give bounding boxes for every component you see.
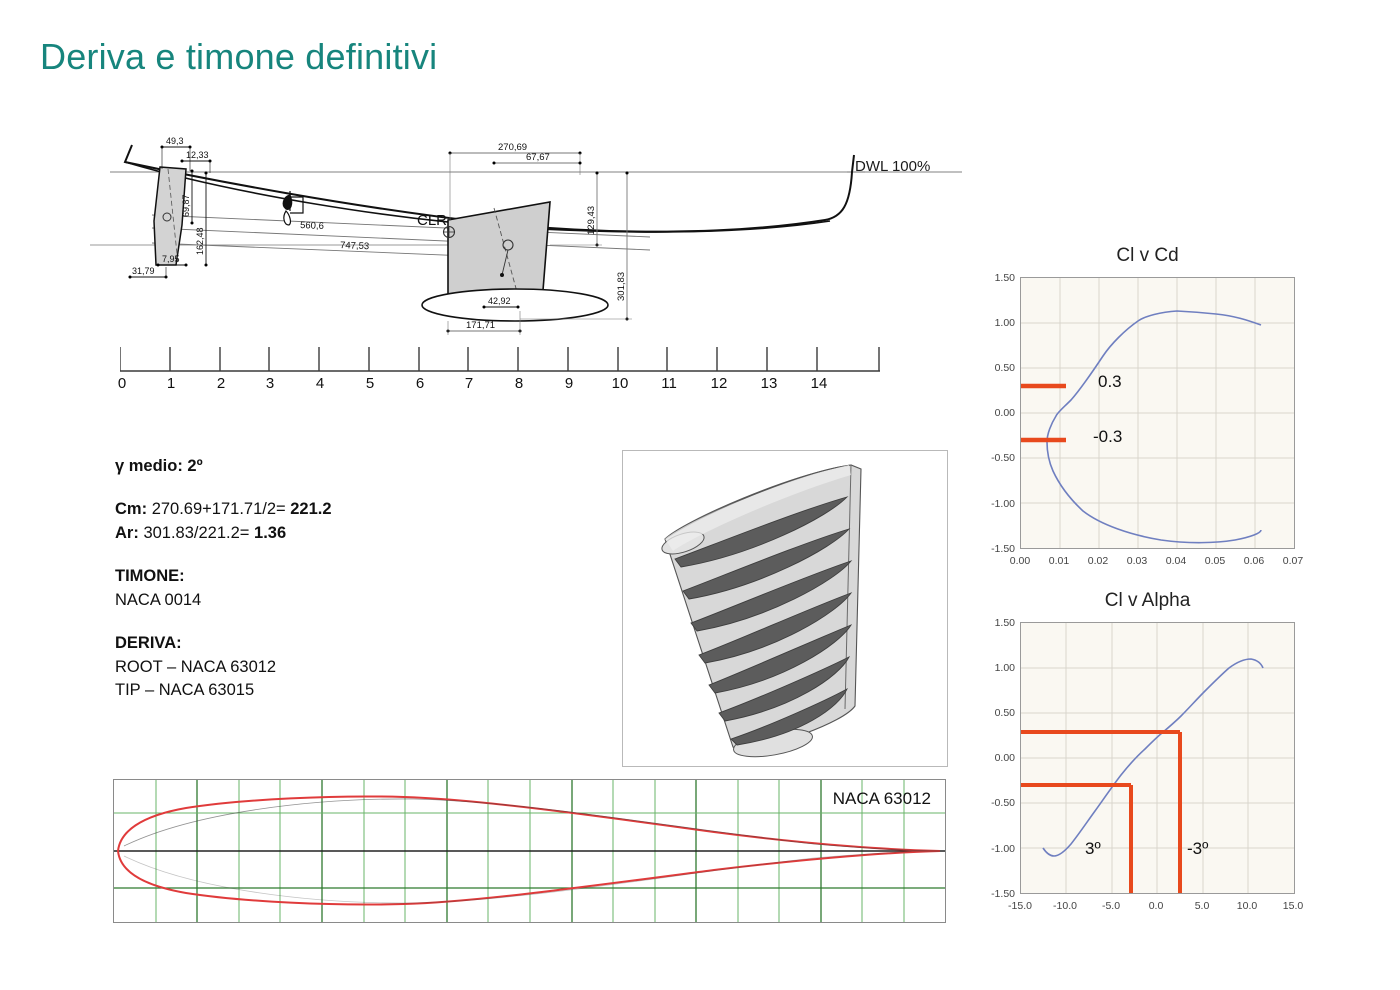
clalpha-ytick-6: -1.50 <box>975 888 1015 900</box>
page-title: Deriva e timone definitivi <box>40 36 437 78</box>
clcd-ytick-5: -1.00 <box>975 498 1015 510</box>
clcd-xtick-4: 0.04 <box>1166 555 1186 567</box>
clalpha-xtick-3: 0.0 <box>1149 900 1164 912</box>
ruler-label-4: 4 <box>316 375 324 392</box>
ruler-ticks <box>120 345 880 375</box>
clcd-xtick-5: 0.05 <box>1205 555 1225 567</box>
clalpha-ytick-2: 0.50 <box>975 707 1015 719</box>
clcd-plot-svg <box>1021 278 1294 548</box>
svg-text:171,71: 171,71 <box>466 320 495 331</box>
ruler-label-9: 9 <box>565 375 573 392</box>
deriva-tip-profile: TIP – NACA 63015 <box>115 679 445 702</box>
clalpha-ytick-5: -1.00 <box>975 843 1015 855</box>
airfoil-name-label: NACA 63012 <box>833 789 931 809</box>
clalpha-ytick-4: -0.50 <box>975 797 1015 809</box>
ruler-label-2: 2 <box>217 375 225 392</box>
ar-expression: 301.83/221.2= <box>143 524 249 542</box>
svg-text:162,48: 162,48 <box>195 227 205 255</box>
chart-cl-v-alpha-title: Cl v Alpha <box>975 590 1320 612</box>
chart-cl-v-cd: Cl v Cd 1.50 1.00 0.50 0.00 -0.50 -1.00 … <box>975 245 1320 585</box>
chart-cl-v-cd-title: Cl v Cd <box>975 245 1320 267</box>
ruler-label-5: 5 <box>366 375 374 392</box>
svg-text:67,67: 67,67 <box>526 152 550 163</box>
svg-text:129,43: 129,43 <box>586 206 597 235</box>
clcd-ytick-6: -1.50 <box>975 543 1015 555</box>
spec-block: γ medio: 2º Cm: 270.69+171.71/2= 221.2 A… <box>115 455 445 702</box>
deriva-heading: DERIVA: <box>115 632 445 655</box>
ruler-label-14: 14 <box>811 375 828 392</box>
svg-text:747,53: 747,53 <box>340 240 369 252</box>
keel-render-svg <box>623 451 947 766</box>
cm-value: 221.2 <box>290 500 331 518</box>
clalpha-ytick-0: 1.50 <box>975 617 1015 629</box>
ar-value: 1.36 <box>254 524 286 542</box>
ruler-label-13: 13 <box>761 375 778 392</box>
ruler-label-10: 10 <box>612 375 629 392</box>
cm-line: Cm: 270.69+171.71/2= 221.2 <box>115 498 445 521</box>
clcd-ytick-0: 1.50 <box>975 272 1015 284</box>
svg-text:49,3: 49,3 <box>166 136 184 146</box>
clcd-xtick-0: 0.00 <box>1010 555 1030 567</box>
ruler-label-11: 11 <box>661 375 677 392</box>
chart-cl-v-alpha: Cl v Alpha 1.50 1.00 0.50 0.00 -0.50 -1.… <box>975 590 1320 930</box>
slide-root: Deriva e timone definitivi <box>0 0 1400 990</box>
clalpha-xtick-2: -5.0 <box>1102 900 1120 912</box>
ar-line: Ar: 301.83/221.2= 1.36 <box>115 522 445 545</box>
airfoil-section-panel: NACA 63012 <box>113 779 946 923</box>
ruler-label-12: 12 <box>711 375 728 392</box>
clcd-xtick-6: 0.06 <box>1244 555 1264 567</box>
clalpha-marker-label-minus3deg: -3º <box>1187 839 1208 859</box>
clalpha-xtick-0: -15.0 <box>1008 900 1032 912</box>
clcd-ytick-2: 0.50 <box>975 362 1015 374</box>
clalpha-xtick-1: -10.0 <box>1053 900 1077 912</box>
keel-3d-render <box>622 450 948 767</box>
svg-text:301,83: 301,83 <box>616 272 627 301</box>
svg-text:7,95: 7,95 <box>162 254 180 264</box>
ruler-label-8: 8 <box>515 375 523 392</box>
timone-heading: TIMONE: <box>115 565 445 588</box>
clalpha-xtick-5: 10.0 <box>1237 900 1257 912</box>
ar-label: Ar: <box>115 524 139 542</box>
timone-profile: NACA 0014 <box>115 589 445 612</box>
clcd-xtick-2: 0.02 <box>1088 555 1108 567</box>
clalpha-ytick-3: 0.00 <box>975 752 1015 764</box>
clcd-ytick-1: 1.00 <box>975 317 1015 329</box>
clalpha-plot-svg <box>1021 623 1294 893</box>
svg-text:12,33: 12,33 <box>186 150 209 160</box>
ruler-label-7: 7 <box>465 375 473 392</box>
chart-cl-v-cd-plot <box>1020 277 1295 549</box>
svg-text:69,87: 69,87 <box>181 194 191 217</box>
deriva-root-profile: ROOT – NACA 63012 <box>115 656 445 679</box>
clcd-marker-label-negative: -0.3 <box>1093 427 1122 447</box>
ruler-label-6: 6 <box>416 375 424 392</box>
svg-text:42,92: 42,92 <box>488 296 511 306</box>
clr-label: CLR <box>417 212 447 229</box>
scale-ruler: 0 1 2 3 4 5 6 7 8 9 10 11 12 13 14 <box>120 345 880 400</box>
airfoil-section-svg <box>114 780 945 922</box>
clalpha-ytick-1: 1.00 <box>975 662 1015 674</box>
svg-text:270,69: 270,69 <box>498 142 527 153</box>
ruler-label-0: 0 <box>118 375 126 392</box>
ruler-label-3: 3 <box>266 375 274 392</box>
dwl-label: DWL 100% <box>855 158 930 175</box>
clcd-xtick-7: 0.07 <box>1283 555 1303 567</box>
ruler-label-1: 1 <box>167 375 175 392</box>
svg-text:560,6: 560,6 <box>300 220 324 232</box>
gamma-medio-line: γ medio: 2º <box>115 455 445 478</box>
clcd-ytick-4: -0.50 <box>975 452 1015 464</box>
cm-expression: 270.69+171.71/2= <box>152 500 286 518</box>
clcd-xtick-3: 0.03 <box>1127 555 1147 567</box>
svg-text:31,79: 31,79 <box>132 266 155 276</box>
chart-cl-v-alpha-plot <box>1020 622 1295 894</box>
cm-label: Cm: <box>115 500 147 518</box>
clcd-ytick-3: 0.00 <box>975 407 1015 419</box>
clalpha-xtick-4: 5.0 <box>1195 900 1210 912</box>
clcd-marker-label-positive: 0.3 <box>1098 372 1122 392</box>
clalpha-marker-label-3deg: 3º <box>1085 839 1101 859</box>
clcd-xtick-1: 0.01 <box>1049 555 1069 567</box>
clalpha-xtick-6: 15.0 <box>1283 900 1303 912</box>
